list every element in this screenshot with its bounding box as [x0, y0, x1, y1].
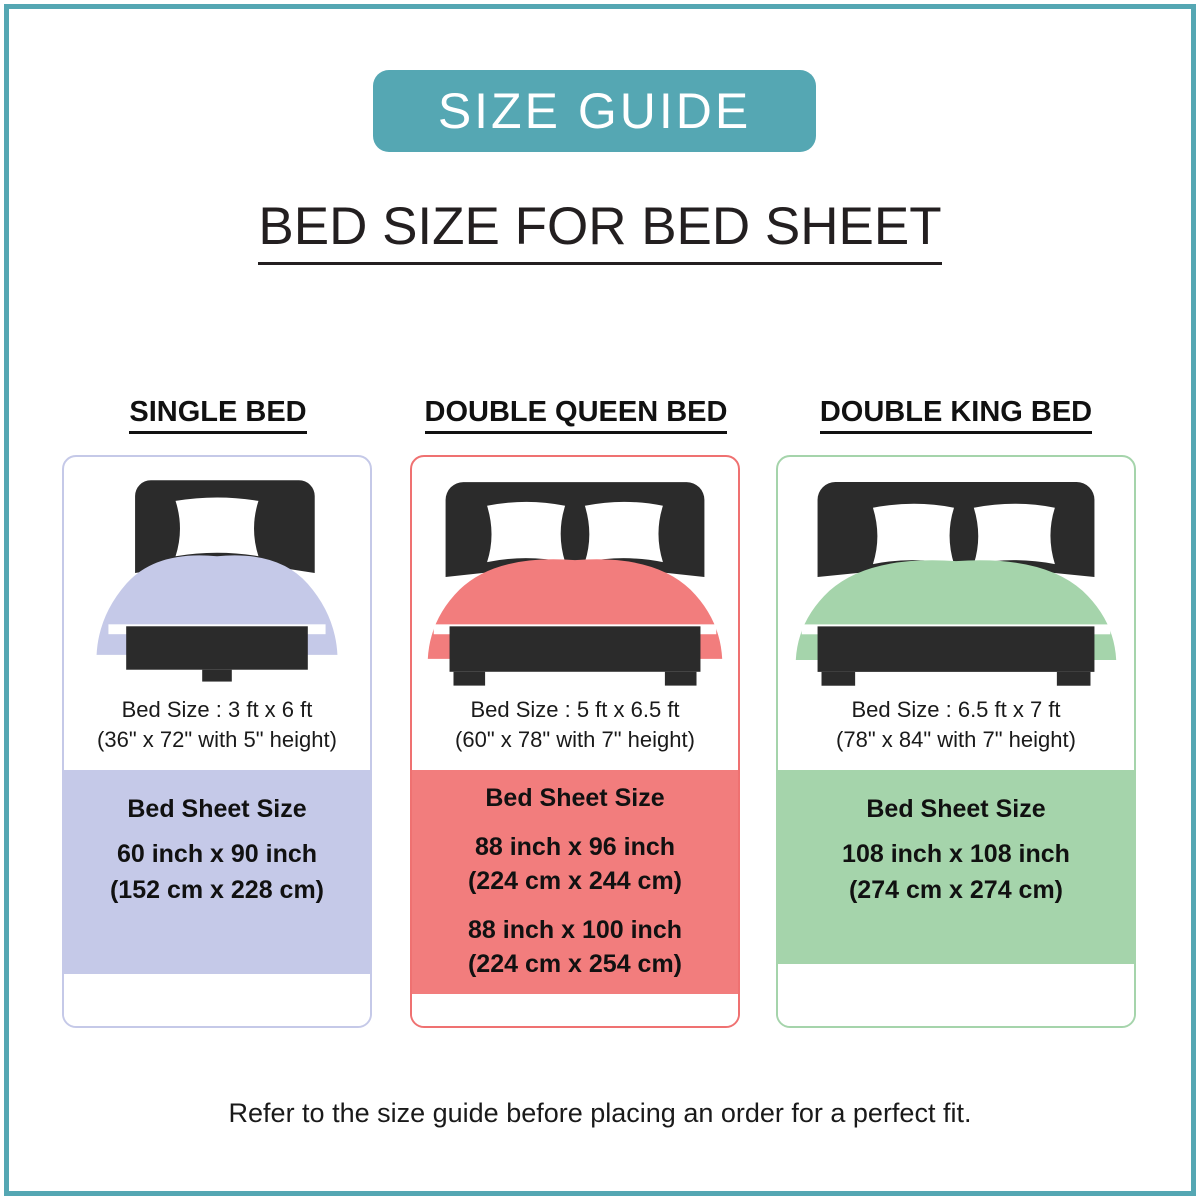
- single-bed-size-line1: Bed Size : 3 ft x 6 ft: [68, 695, 366, 725]
- king-sheet-size-title: Bed Sheet Size: [778, 792, 1134, 828]
- column-heading-queen: DOUBLE QUEEN BED: [408, 396, 744, 429]
- king-bed-size-line2: (78" x 84" with 7" height): [782, 725, 1130, 755]
- page-title-text: BED SIZE FOR BED SHEET: [258, 197, 941, 265]
- column-heading-king-text: DOUBLE KING BED: [820, 396, 1092, 434]
- card-double-king-bed: Bed Size : 6.5 ft x 7 ft (78" x 84" with…: [776, 455, 1136, 1028]
- queen-bed-size-line2: (60" x 78" with 7" height): [416, 725, 734, 755]
- king-sheet-size-band: Bed Sheet Size 108 inch x 108 inch (274 …: [778, 770, 1134, 964]
- king-bed-size-line1: Bed Size : 6.5 ft x 7 ft: [782, 695, 1130, 725]
- queen-card-footer-strip: [412, 994, 738, 1026]
- single-sheet-size-title: Bed Sheet Size: [64, 792, 370, 828]
- king-sheet-size-cm: (274 cm x 274 cm): [778, 873, 1134, 909]
- queen-sheet-size-cm-1: (224 cm x 244 cm): [412, 865, 738, 899]
- single-sheet-size-option: 60 inch x 90 inch (152 cm x 228 cm): [64, 837, 370, 908]
- queen-sheet-size-title: Bed Sheet Size: [412, 782, 738, 816]
- queen-bed-size-line1: Bed Size : 5 ft x 6.5 ft: [416, 695, 734, 725]
- queen-sheet-size-option-2: 88 inch x 100 inch (224 cm x 254 cm): [412, 914, 738, 981]
- king-bed-illustration: [778, 457, 1134, 687]
- queen-bed-size-block: Bed Size : 5 ft x 6.5 ft (60" x 78" with…: [412, 687, 738, 770]
- queen-sheet-size-band: Bed Sheet Size 88 inch x 96 inch (224 cm…: [412, 770, 738, 994]
- single-bed-size-line2: (36" x 72" with 5" height): [68, 725, 366, 755]
- footer-note: Refer to the size guide before placing a…: [0, 1098, 1200, 1129]
- size-guide-badge: SIZE GUIDE: [373, 70, 816, 152]
- page-title: BED SIZE FOR BED SHEET: [0, 196, 1200, 257]
- queen-bed-icon: [412, 457, 738, 687]
- king-sheet-size-inch: 108 inch x 108 inch: [778, 837, 1134, 873]
- single-sheet-size-cm: (152 cm x 228 cm): [64, 873, 370, 909]
- card-single-bed: Bed Size : 3 ft x 6 ft (36" x 72" with 5…: [62, 455, 372, 1028]
- badge-label: SIZE GUIDE: [438, 86, 751, 136]
- queen-bed-illustration: [412, 457, 738, 687]
- size-guide-infographic: SIZE GUIDE BED SIZE FOR BED SHEET SINGLE…: [0, 0, 1200, 1200]
- column-heading-single: SINGLE BED: [62, 396, 374, 429]
- card-double-queen-bed: Bed Size : 5 ft x 6.5 ft (60" x 78" with…: [410, 455, 740, 1028]
- single-sheet-size-band: Bed Sheet Size 60 inch x 90 inch (152 cm…: [64, 770, 370, 974]
- single-bed-illustration: [64, 457, 370, 687]
- queen-sheet-size-inch-2: 88 inch x 100 inch: [412, 914, 738, 948]
- column-heading-queen-text: DOUBLE QUEEN BED: [425, 396, 728, 434]
- column-heading-king: DOUBLE KING BED: [774, 396, 1138, 429]
- single-sheet-size-inch: 60 inch x 90 inch: [64, 837, 370, 873]
- king-sheet-size-option: 108 inch x 108 inch (274 cm x 274 cm): [778, 837, 1134, 908]
- queen-sheet-size-option-1: 88 inch x 96 inch (224 cm x 244 cm): [412, 831, 738, 898]
- king-bed-size-block: Bed Size : 6.5 ft x 7 ft (78" x 84" with…: [778, 687, 1134, 770]
- queen-sheet-size-inch-1: 88 inch x 96 inch: [412, 831, 738, 865]
- queen-sheet-size-cm-2: (224 cm x 254 cm): [412, 948, 738, 982]
- king-card-footer-strip: [778, 964, 1134, 1026]
- single-bed-size-block: Bed Size : 3 ft x 6 ft (36" x 72" with 5…: [64, 687, 370, 770]
- king-bed-icon: [778, 457, 1134, 687]
- single-bed-icon: [64, 457, 370, 687]
- single-card-footer-strip: [64, 974, 370, 1026]
- column-heading-single-text: SINGLE BED: [129, 396, 306, 434]
